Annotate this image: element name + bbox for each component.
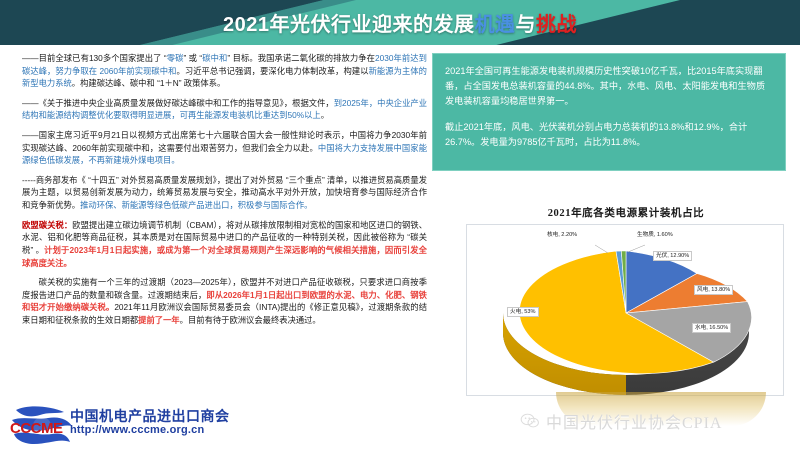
pie-label-nuclear: 核电, 2.20% [545, 231, 579, 239]
paragraph-soe-guidance: ——《关于推进中央企业高质量发展做好碳达峰碳中和工作的指导意见》，根据文件，到2… [22, 97, 427, 122]
p4-highlight-green-trade: 推动环保、新能源等绿色低碳产品进出口，积极参与国际合作。 [80, 200, 312, 210]
paragraph-cbam: 欧盟碳关税：欧盟提出建立碳边境调节机制（CBAM），将对从碳排放限制相对宽松的国… [22, 219, 427, 269]
cccme-org-name: 中国机电产品进出口商会 [70, 408, 230, 424]
p6-highlight-one-year-earlier: 提前了一年 [138, 315, 180, 325]
cccme-url[interactable]: http://www.cccme.org.cn [70, 424, 230, 437]
cbam-lead-label: 欧盟碳关税： [22, 220, 72, 230]
p1-highlight-zero-carbon: 零碳 [167, 53, 184, 63]
slide-canvas: 2021年光伏行业迎来的发展机遇与挑战 ——目前全球已有130多个国家提出了 “… [0, 0, 800, 451]
p2-seg2: 。 [321, 110, 329, 120]
p6-seg3: 。目前有待于欧洲议会最终表决通过。 [180, 315, 321, 325]
cpia-watermark: 中国光伏行业协会CPIA [520, 404, 790, 438]
p5-highlight-2023-start: 计划于2023年1月1日起实施，或成为第一个对全球贸易规则产生深远影响的气候相关… [22, 245, 427, 268]
pie-label-pv: 光伏, 12.90% [653, 251, 692, 261]
callout-paragraph-2: 截止2021年底，风电、光伏装机分别占电力总装机的13.8%和12.9%，合计2… [445, 120, 773, 150]
cccme-logo: CCCME 中国机电产品进出口商会 http://www.cccme.org.c… [8, 404, 338, 448]
p2-seg1: ——《关于推进中央企业高质量发展做好碳达峰碳中和工作的指导意见》，根据文件， [22, 98, 334, 108]
slide-header: 2021年光伏行业迎来的发展机遇与挑战 [0, 0, 800, 45]
page-title-opportunity: 机遇 [475, 8, 516, 37]
paragraph-mofcom-plan: -----商务部发布《 “十四五” 对外贸易高质量发展规划》，提出了对外贸易 “… [22, 174, 427, 212]
callout-paragraph-1: 2021年全国可再生能源发电装机规模历史性突破10亿千瓦，比2015年底实现翻番… [445, 64, 773, 109]
p1-seg1: ——目前全球已有130多个国家提出了 “ [22, 53, 167, 63]
p1-seg5: 。构建碳达峰、碳中和 “1＋N” 政策体系。 [72, 78, 226, 88]
pie-label-thermal: 火电, 53% [507, 307, 539, 317]
p1-seg2: ” 或 “ [184, 53, 203, 63]
left-text-column: ——目前全球已有130多个国家提出了 “零碳” 或 “碳中和” 目标。我国承诺二… [22, 52, 427, 392]
p1-seg3: ” 目标。我国承诺二氧化碳的排放力争在 [227, 53, 375, 63]
cccme-logo-text: 中国机电产品进出口商会 http://www.cccme.org.cn [70, 408, 230, 437]
pie-label-hydro: 水电, 16.50% [692, 323, 731, 333]
pie-label-biomass: 生物质, 1.60% [635, 231, 675, 239]
wechat-icon [520, 413, 540, 429]
cpia-watermark-text: 中国光伏行业协会CPIA [546, 409, 722, 433]
page-title-part-1: 2021年光伏行业迎来的发展 [223, 8, 475, 37]
page-title-challenge: 挑战 [536, 8, 577, 37]
page-title: 2021年光伏行业迎来的发展机遇与挑战 [0, 0, 800, 45]
power-mix-chart: 2021年底各类电源累计装机占比 [466, 205, 786, 405]
page-title-part-2: 与 [516, 8, 537, 37]
paragraph-cbam-transition: 碳关税的实施有一个三年的过渡期（2023—2025年），欧盟并不对进口产品征收碳… [22, 276, 427, 326]
paragraph-carbon-goals: ——目前全球已有130多个国家提出了 “零碳” 或 “碳中和” 目标。我国承诺二… [22, 52, 427, 90]
paragraph-un-speech: ——国家主席习近平9月21日以视频方式出席第七十六届联合国大会一般性辩论时表示，… [22, 129, 427, 167]
p1-highlight-carbon-neutral: 碳中和 [202, 53, 227, 63]
p1-seg4: 。习近平总书记强调，要深化电力体制改革，构建以 [177, 66, 369, 76]
renewable-capacity-callout: 2021年全国可再生能源发电装机规模历史性突破10亿千瓦，比2015年底实现翻番… [432, 53, 786, 171]
pie-label-wind: 风电, 13.80% [694, 285, 733, 295]
chart-title: 2021年底各类电源累计装机占比 [466, 205, 786, 220]
chart-plot-area: 核电, 2.20% 生物质, 1.60% 光伏, 12.90% 风电, 13.8… [466, 224, 784, 396]
cccme-wordmark: CCCME [10, 420, 63, 437]
